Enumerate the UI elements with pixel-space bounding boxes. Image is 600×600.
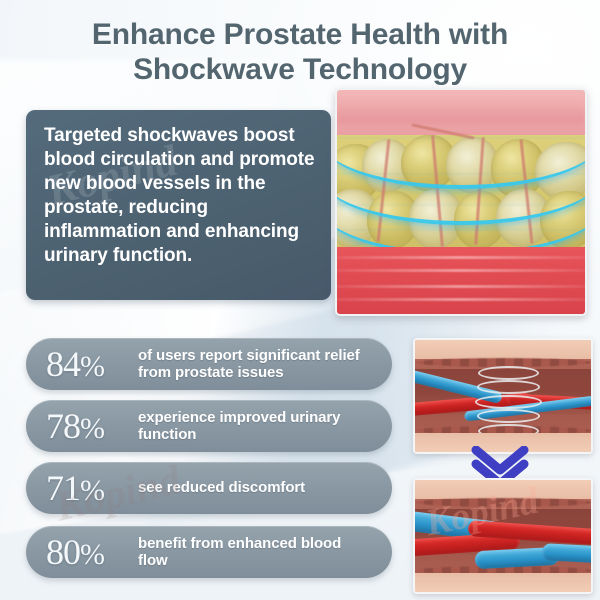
infographic-canvas: Enhance Prostate Health with Shockwave T… bbox=[0, 0, 600, 600]
stat-description-line-2: flow bbox=[138, 552, 341, 569]
stat-row: 84% of users report significant relief f… bbox=[26, 338, 392, 390]
shockwave-ring bbox=[478, 366, 538, 380]
percent-symbol: % bbox=[80, 474, 104, 507]
shockwave-ring bbox=[475, 395, 542, 409]
page-title: Enhance Prostate Health with Shockwave T… bbox=[0, 18, 600, 88]
stat-description: of users report significant relief from … bbox=[138, 347, 360, 381]
stat-description-line-1: of users report significant relief bbox=[138, 347, 360, 364]
stat-row: 80% benefit from enhanced blood flow bbox=[26, 526, 392, 578]
stat-value: 78 bbox=[46, 406, 80, 446]
stat-row: 78% experience improved urinary function bbox=[26, 400, 392, 452]
muscle-fiber bbox=[335, 298, 587, 301]
intro-card: Targeted shockwaves boost blood circulat… bbox=[26, 110, 331, 300]
stat-value: 71 bbox=[46, 468, 80, 508]
intro-body-text: Targeted shockwaves boost blood circulat… bbox=[44, 125, 315, 266]
stat-percentage: 71% bbox=[46, 470, 138, 506]
stat-value: 84 bbox=[46, 344, 80, 384]
page-title-line-2: Shockwave Technology bbox=[0, 53, 600, 88]
stat-description-line-1: experience improved urinary bbox=[138, 409, 340, 426]
stat-description: benefit from enhanced blood flow bbox=[138, 535, 341, 569]
stat-description-line-2: from prostate issues bbox=[138, 364, 360, 381]
stat-description-line-2: function bbox=[138, 426, 340, 443]
stat-description-line-1: see reduced discomfort bbox=[138, 479, 305, 496]
muscle-fiber bbox=[335, 256, 587, 259]
stat-percentage: 78% bbox=[46, 408, 138, 444]
muscle-fiber bbox=[335, 269, 587, 272]
stat-description: experience improved urinary function bbox=[138, 409, 340, 443]
hero-tissue-illustration bbox=[335, 88, 587, 316]
percent-symbol: % bbox=[80, 538, 104, 571]
skin-layer bbox=[415, 573, 591, 592]
vessel-panel-before bbox=[413, 338, 593, 454]
skin-layer bbox=[415, 480, 591, 499]
stat-description-line-1: benefit from enhanced blood bbox=[138, 535, 341, 552]
stat-value: 80 bbox=[46, 532, 80, 572]
page-title-line-1: Enhance Prostate Health with bbox=[92, 18, 508, 51]
percent-symbol: % bbox=[80, 350, 104, 383]
stat-description: see reduced discomfort bbox=[138, 479, 305, 496]
stat-row: 71% see reduced discomfort bbox=[26, 462, 392, 514]
dermis-layer bbox=[337, 101, 585, 123]
percent-symbol: % bbox=[80, 412, 104, 445]
tissue-boundary bbox=[415, 498, 591, 507]
skin-layer bbox=[415, 340, 591, 359]
stat-percentage: 80% bbox=[46, 534, 138, 570]
muscle-fiber bbox=[335, 285, 587, 288]
vessel-panel-after bbox=[413, 478, 593, 594]
stat-percentage: 84% bbox=[46, 346, 138, 382]
